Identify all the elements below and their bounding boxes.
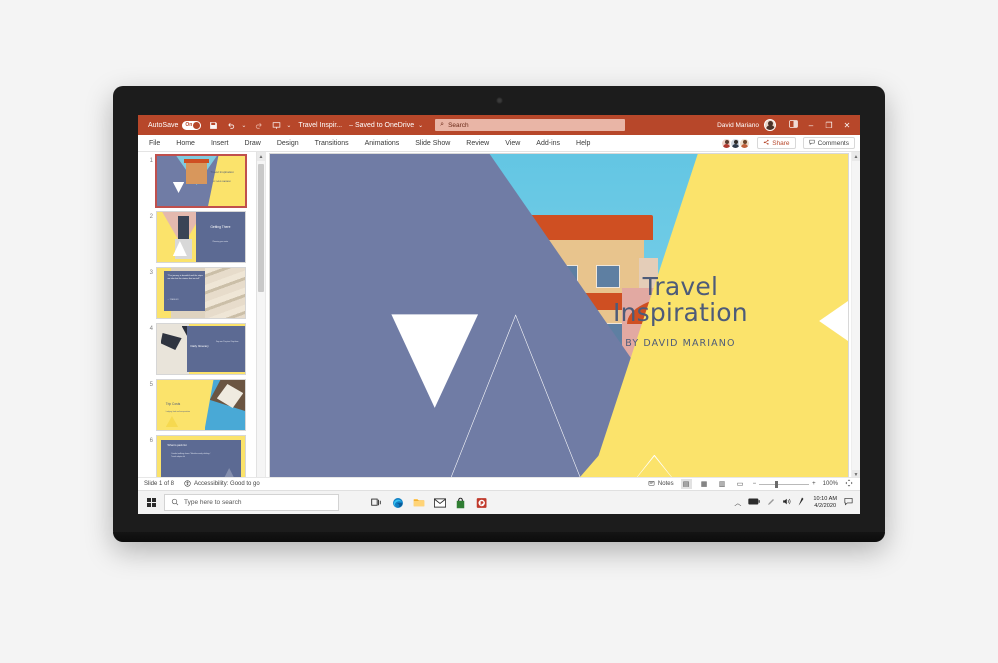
- tab-view[interactable]: View: [497, 140, 528, 147]
- notes-icon: [648, 480, 655, 489]
- zoom-track[interactable]: [759, 484, 809, 485]
- ribbon-right-group: Share Comments: [723, 137, 860, 149]
- slide-byline: BY DAVID MARIANO: [542, 338, 819, 349]
- slide-thumbnail-2[interactable]: Getting There Planning your route: [157, 212, 245, 262]
- fit-slide-to-window-icon[interactable]: [845, 479, 853, 489]
- accessibility-icon: [184, 480, 191, 489]
- tab-design[interactable]: Design: [269, 140, 307, 147]
- search-placeholder: Search: [448, 122, 469, 129]
- accessibility-status[interactable]: Accessibility: Good to go: [184, 480, 260, 489]
- zoom-level[interactable]: 100%: [823, 481, 838, 487]
- accessibility-label: Accessibility: Good to go: [194, 481, 260, 487]
- status-left-group: Slide 1 of 8 Accessibility: Good to go: [138, 480, 260, 489]
- tab-home[interactable]: Home: [168, 140, 203, 147]
- slide-title-line-1: Travel: [542, 274, 819, 300]
- clock-time: 10:10 AM: [813, 496, 837, 503]
- windows-start-icon[interactable]: [138, 498, 164, 507]
- thumbnail-title-3: "The journey is beautiful and the stops …: [168, 275, 205, 281]
- thumbnail-row-3[interactable]: 3 "The journey is beautiful and the stop…: [138, 268, 265, 318]
- thumbnail-title-2: Getting There: [201, 226, 240, 230]
- undo-dropdown-caret[interactable]: ⌄: [241, 122, 246, 129]
- zoom-slider[interactable]: − +: [753, 481, 816, 487]
- tab-transitions[interactable]: Transitions: [307, 140, 357, 147]
- comments-label: Comments: [818, 140, 849, 147]
- slide-thumbnail-3[interactable]: "The journey is beautiful and the stops …: [157, 268, 245, 318]
- thumbnail-number-4: 4: [142, 324, 153, 332]
- taskbar-app-icons: [369, 495, 489, 510]
- thumbnail-row-2[interactable]: 2 Getting There Planning your route: [138, 212, 265, 262]
- notification-center-icon[interactable]: [844, 497, 853, 508]
- taskbar-clock[interactable]: 10:10 AM 4/2/2020: [813, 496, 837, 510]
- customize-quick-access-icon[interactable]: ⌄: [286, 122, 291, 129]
- autosave-state: On: [185, 122, 192, 128]
- slide-thumbnail-4[interactable]: Daily Itinerary Day one / Day two / Day …: [157, 324, 245, 374]
- tab-slide-show[interactable]: Slide Show: [407, 140, 458, 147]
- search-icon: [171, 498, 179, 508]
- search-icon: ⌕: [440, 121, 444, 129]
- microsoft-edge-icon[interactable]: [390, 495, 405, 510]
- clock-date: 4/2/2020: [813, 503, 837, 510]
- slide-thumbnail-1[interactable]: Travel Inspiration BY DAVID MARIANO: [157, 156, 245, 206]
- powerpoint-status-bar: Slide 1 of 8 Accessibility: Good to go N…: [138, 477, 860, 490]
- scroll-up-arrow[interactable]: ▲: [257, 152, 265, 161]
- account-name[interactable]: David Mariano: [717, 122, 759, 129]
- ribbon-display-options-icon[interactable]: [784, 120, 802, 130]
- thumbnail-title-5: Trip Costs: [166, 402, 201, 406]
- taskbar-search-input[interactable]: Type here to search: [164, 494, 339, 511]
- system-tray: ︿ 10:10 AM 4/2/2020: [734, 496, 860, 510]
- show-hidden-icons-chevron[interactable]: ︿: [734, 498, 741, 508]
- start-presentation-icon[interactable]: [271, 120, 282, 131]
- autosave-toggle[interactable]: On: [182, 121, 201, 130]
- scrollbar-thumb[interactable]: [258, 164, 264, 292]
- autosave-label: AutoSave: [148, 122, 178, 129]
- canvas-scrollbar[interactable]: ▲ ▼ ▣: [851, 152, 860, 490]
- thumbnail-title-6: What to pack list: [168, 444, 212, 447]
- microsoft-store-icon[interactable]: [453, 495, 468, 510]
- zoom-knob[interactable]: [775, 481, 778, 488]
- slide-canvas-pane[interactable]: Travel Inspiration BY DAVID MARIANO ▲ ▼ …: [266, 152, 860, 490]
- titlebar-right-group: David Mariano – ❐ ✕: [717, 119, 860, 131]
- slideshow-view-button[interactable]: ▭: [735, 479, 746, 489]
- tab-insert[interactable]: Insert: [203, 140, 237, 147]
- tab-draw[interactable]: Draw: [236, 140, 268, 147]
- tab-help[interactable]: Help: [568, 140, 598, 147]
- front-camera: [496, 97, 503, 104]
- surface-pen-icon[interactable]: [798, 497, 806, 508]
- thumbnail-subtitle-1: BY DAVID MARIANO: [208, 181, 236, 183]
- normal-view-button[interactable]: ▤: [681, 479, 692, 489]
- thumbnail-row-1[interactable]: 1 Travel Inspiration BY DAVID MARIANO: [138, 156, 265, 206]
- slide-thumbnail-5[interactable]: Trip Costs Lodging, food and transportat…: [157, 380, 245, 430]
- comments-button[interactable]: Comments: [803, 137, 855, 149]
- thumbnail-scrollbar[interactable]: ▲ ▼: [256, 152, 265, 490]
- thumbnail-title-1: Travel Inspiration: [208, 171, 236, 175]
- current-slide[interactable]: Travel Inspiration BY DAVID MARIANO: [270, 154, 848, 488]
- tab-review[interactable]: Review: [458, 140, 497, 147]
- battery-icon[interactable]: [748, 498, 760, 507]
- redo-icon[interactable]: [253, 120, 264, 131]
- notes-label: Notes: [658, 481, 674, 487]
- save-icon[interactable]: [208, 120, 219, 131]
- undo-icon[interactable]: [226, 120, 237, 131]
- thumbnail-subtitle-3: — TRAVELER: [168, 299, 205, 301]
- slide-thumbnail-pane[interactable]: 1 Travel Inspiration BY DAVID MARIANO: [138, 152, 266, 490]
- share-label: Share: [772, 140, 789, 147]
- slide-title-line-2: Inspiration: [542, 300, 819, 326]
- thumbnail-number-5: 5: [142, 380, 153, 388]
- thumbnail-title-4: Daily Itinerary: [190, 344, 215, 348]
- thumbnail-number-1: 1: [142, 156, 153, 164]
- thumbnail-subtitle-5: Lodging, food and transportation: [166, 411, 201, 413]
- share-icon: [763, 139, 769, 147]
- coauthor-avatar-3[interactable]: [739, 138, 750, 149]
- comment-icon: [809, 139, 815, 147]
- taskbar-search-placeholder: Type here to search: [184, 499, 241, 506]
- thumbnail-row-5[interactable]: 5 Trip Costs Lodging, food and transport…: [138, 380, 265, 430]
- windows-taskbar: Type here to search: [138, 490, 860, 514]
- pen-icon[interactable]: [767, 498, 775, 508]
- thumbnail-number-3: 3: [142, 268, 153, 276]
- work-area: 1 Travel Inspiration BY DAVID MARIANO: [138, 152, 860, 490]
- task-view-icon[interactable]: [369, 495, 384, 510]
- restore-button[interactable]: ❐: [820, 121, 838, 130]
- thumbnail-row-4[interactable]: 4 Daily Itinerary Day one / Day two / Da…: [138, 324, 265, 374]
- ribbon-tab-bar: File Home Insert Draw Design Transitions…: [138, 135, 860, 152]
- mail-icon[interactable]: [432, 495, 447, 510]
- document-title-caret[interactable]: ⌄: [418, 122, 423, 129]
- reading-view-button[interactable]: ▥: [717, 479, 728, 489]
- slide-sorter-view-button[interactable]: ▦: [699, 479, 710, 489]
- tab-file[interactable]: File: [138, 140, 168, 147]
- thumbnail-number-6: 6: [142, 436, 153, 444]
- file-explorer-icon[interactable]: [411, 495, 426, 510]
- thumbnail-number-2: 2: [142, 212, 153, 220]
- canvas-scroll-up-arrow[interactable]: ▲: [852, 152, 860, 161]
- tablet-device: AutoSave On ⌄ ⌄ Travel Inspir... – Saved…: [113, 86, 885, 541]
- volume-icon[interactable]: [782, 497, 791, 508]
- thumbnail-subtitle-4: Day one / Day two / Day three: [216, 341, 241, 344]
- close-button[interactable]: ✕: [838, 121, 856, 130]
- slide-counter[interactable]: Slide 1 of 8: [144, 481, 174, 487]
- document-title: Travel Inspir...: [298, 122, 342, 129]
- minimize-button[interactable]: –: [802, 121, 820, 130]
- search-input[interactable]: ⌕ Search: [435, 119, 625, 131]
- tab-animations[interactable]: Animations: [357, 140, 408, 147]
- slide-title-group[interactable]: Travel Inspiration BY DAVID MARIANO: [542, 274, 819, 349]
- status-right-group: Notes ▤ ▦ ▥ ▭ − + 100%: [648, 479, 860, 489]
- share-button[interactable]: Share: [757, 137, 795, 149]
- notes-button[interactable]: Notes: [648, 480, 674, 489]
- zoom-out-button[interactable]: −: [753, 481, 757, 487]
- thumbnail-subtitle-2: Planning your route: [201, 241, 240, 243]
- powerpoint-titlebar: AutoSave On ⌄ ⌄ Travel Inspir... – Saved…: [138, 115, 860, 135]
- powerpoint-icon[interactable]: [474, 495, 489, 510]
- thumbnail-subtitle-6: Comfort walking shoes / Weather-ready cl…: [171, 453, 215, 460]
- save-status: – Saved to OneDrive: [349, 122, 414, 129]
- toggle-knob: [193, 122, 200, 129]
- user-avatar[interactable]: [764, 119, 776, 131]
- device-screen: AutoSave On ⌄ ⌄ Travel Inspir... – Saved…: [138, 115, 860, 514]
- tab-add-ins[interactable]: Add-ins: [528, 140, 568, 147]
- zoom-in-button[interactable]: +: [812, 481, 816, 487]
